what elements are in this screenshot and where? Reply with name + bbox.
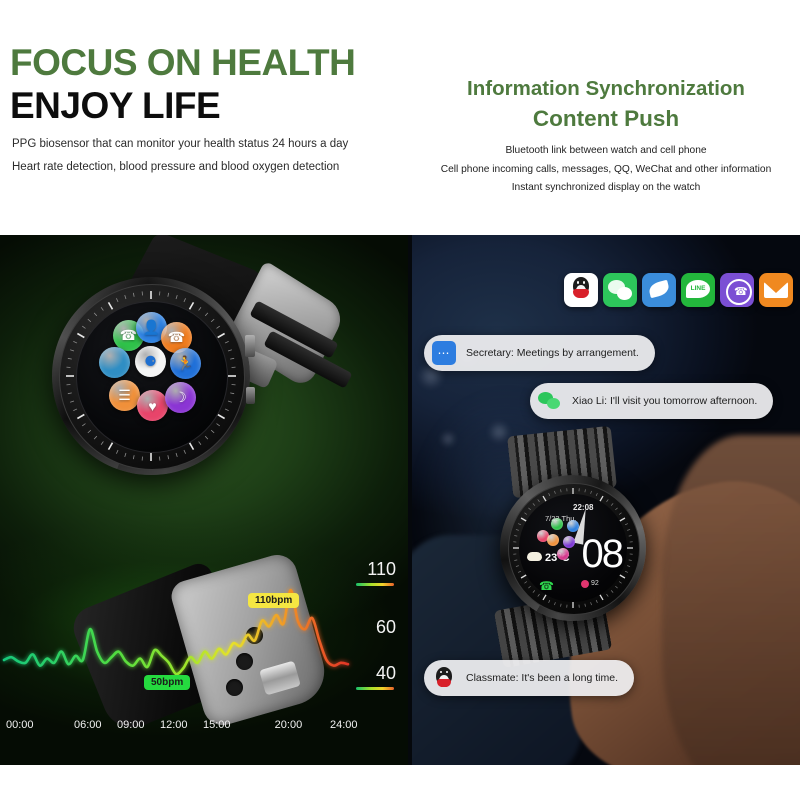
notification-text: Xiao Li: I'll visit you tomorrow afterno…: [572, 395, 757, 407]
phone-icon: ☎: [539, 579, 554, 593]
smartwatch-on-wrist: 22:08 7/23 Thu. 08 23°C ☎ 92: [500, 475, 646, 621]
apps-grid-icon[interactable]: ⚈: [135, 346, 166, 377]
chart-annotation-min: 50bpm: [144, 675, 190, 690]
header-section: FOCUS ON HEALTH ENJOY LIFE PPG biosensor…: [0, 0, 800, 235]
wechat-icon[interactable]: [603, 273, 637, 307]
chart-ytick-110: 110: [367, 559, 396, 580]
contacts-icon-glyph: 👤: [143, 319, 160, 336]
chart-ylegend-bar-bottom: [356, 687, 394, 690]
chart-xtick-2000: 20:00: [275, 719, 303, 731]
running-icon[interactable]: 🏃: [170, 348, 201, 379]
steps-indicator-icon: [581, 580, 589, 588]
qq-icon: [432, 666, 456, 690]
chart-xtick-1500: 15:00: [203, 719, 231, 731]
chart-annotation-max: 110bpm: [248, 593, 299, 608]
page-title-information-synchronization: Information Synchronization: [412, 78, 800, 101]
sphere-icon[interactable]: [99, 347, 130, 378]
product-infographic: FOCUS ON HEALTH ENJOY LIFE PPG biosensor…: [0, 0, 800, 800]
wechat-icon: [538, 389, 562, 413]
heart-icon-glyph: ♥: [148, 398, 156, 414]
watch-secondary-button[interactable]: [246, 387, 255, 404]
smartwatch-front-view: 2025303540455055051015 ☎👤☎⚈🏃☰♥☽: [52, 277, 250, 475]
email-icon[interactable]: [759, 273, 793, 307]
line-label: LINE: [688, 285, 708, 292]
wrist-watch-screen[interactable]: 22:08 7/23 Thu. 08 23°C ☎ 92: [519, 494, 627, 602]
notification-text: Classmate: It's been a long time.: [466, 672, 618, 684]
notification-bubble-classmate[interactable]: Classmate: It's been a long time.: [424, 660, 634, 696]
line-icon[interactable]: LINE: [681, 273, 715, 307]
twitter-bird-icon[interactable]: [642, 273, 676, 307]
list-icon-glyph: ☰: [118, 387, 131, 404]
right-subtitle-1: Bluetooth link between watch and cell ph…: [412, 145, 800, 157]
qq-icon[interactable]: [564, 273, 598, 307]
viber-icon[interactable]: ☎: [720, 273, 754, 307]
heart-rate-waveform: [0, 555, 408, 765]
image-band: 2025303540455055051015 ☎👤☎⚈🏃☰♥☽: [0, 235, 800, 765]
header-right: Information Synchronization Content Push…: [412, 78, 800, 200]
watch-face-app-dot[interactable]: [563, 536, 575, 548]
page-title-focus-on-health: FOCUS ON HEALTH: [10, 44, 403, 81]
watch-face-time-small: 22:08: [573, 503, 593, 512]
messaging-app-icon-row[interactable]: LINE☎: [564, 273, 793, 307]
left-subtitle-2: Heart rate detection, blood pressure and…: [12, 161, 403, 175]
notification-text: Secretary: Meetings by arrangement.: [466, 347, 639, 359]
heart-icon[interactable]: ♥: [137, 390, 168, 421]
bokeh-light: [440, 431, 456, 447]
watch-face-app-dot[interactable]: [547, 534, 559, 546]
right-subtitle-3: Instant synchronized display on the watc…: [412, 182, 800, 194]
watch-face-steps: 92: [591, 580, 599, 587]
panel-divider: [408, 235, 412, 765]
heart-rate-chart: 110bpm 50bpm 110 60 40 00:0006:0009:0012…: [0, 555, 408, 765]
phone-ring-icon-glyph: ☎: [120, 327, 137, 344]
call-icon-glyph: ☎: [168, 329, 185, 346]
chart-ytick-40: 40: [376, 663, 396, 684]
watch-app-grid[interactable]: ☎👤☎⚈🏃☰♥☽: [77, 302, 227, 452]
notification-bubble-secretary[interactable]: ⋯ Secretary: Meetings by arrangement.: [424, 335, 655, 371]
page-title-content-push: Content Push: [412, 107, 800, 132]
running-icon-glyph: 🏃: [177, 355, 194, 372]
left-product-photo: 2025303540455055051015 ☎👤☎⚈🏃☰♥☽: [0, 235, 408, 765]
watch-screen[interactable]: ☎👤☎⚈🏃☰♥☽: [76, 301, 228, 453]
header-left: FOCUS ON HEALTH ENJOY LIFE PPG biosensor…: [8, 44, 403, 184]
watch-face-app-dot[interactable]: [557, 548, 569, 560]
watch-face-app-cluster: [537, 516, 585, 560]
list-icon[interactable]: ☰: [109, 380, 140, 411]
moon-stars-icon[interactable]: ☽: [165, 382, 196, 413]
bird-glyph: [648, 280, 671, 298]
chart-xtick-0000: 00:00: [6, 719, 34, 731]
page-title-enjoy-life: ENJOY LIFE: [10, 87, 403, 124]
watch-face-app-dot[interactable]: [567, 520, 579, 532]
chart-xtick-0600: 06:00: [74, 719, 102, 731]
chart-ytick-60: 60: [376, 617, 396, 638]
chart-ylegend-bar-top: [356, 583, 394, 586]
forearm-upper: [662, 435, 800, 765]
left-subtitle-1: PPG biosensor that can monitor your heal…: [12, 138, 403, 152]
chart-xtick-1200: 12:00: [160, 719, 188, 731]
apps-grid-icon-glyph: ⚈: [144, 353, 157, 370]
notification-bubble-xiaoli[interactable]: Xiao Li: I'll visit you tomorrow afterno…: [530, 383, 773, 419]
right-lifestyle-photo: 22:08 7/23 Thu. 08 23°C ☎ 92 LINE☎ ⋯: [412, 235, 800, 765]
moon-stars-icon-glyph: ☽: [174, 389, 187, 406]
watch-crown-button[interactable]: [245, 335, 255, 357]
sms-icon: ⋯: [432, 341, 456, 365]
watch-face-app-dot[interactable]: [551, 518, 563, 530]
chart-xtick-0900: 09:00: [117, 719, 145, 731]
watch-face-hour: 08: [582, 534, 623, 574]
chart-xtick-2400: 24:00: [330, 719, 358, 731]
right-subtitle-2: Cell phone incoming calls, messages, QQ,…: [412, 164, 800, 176]
